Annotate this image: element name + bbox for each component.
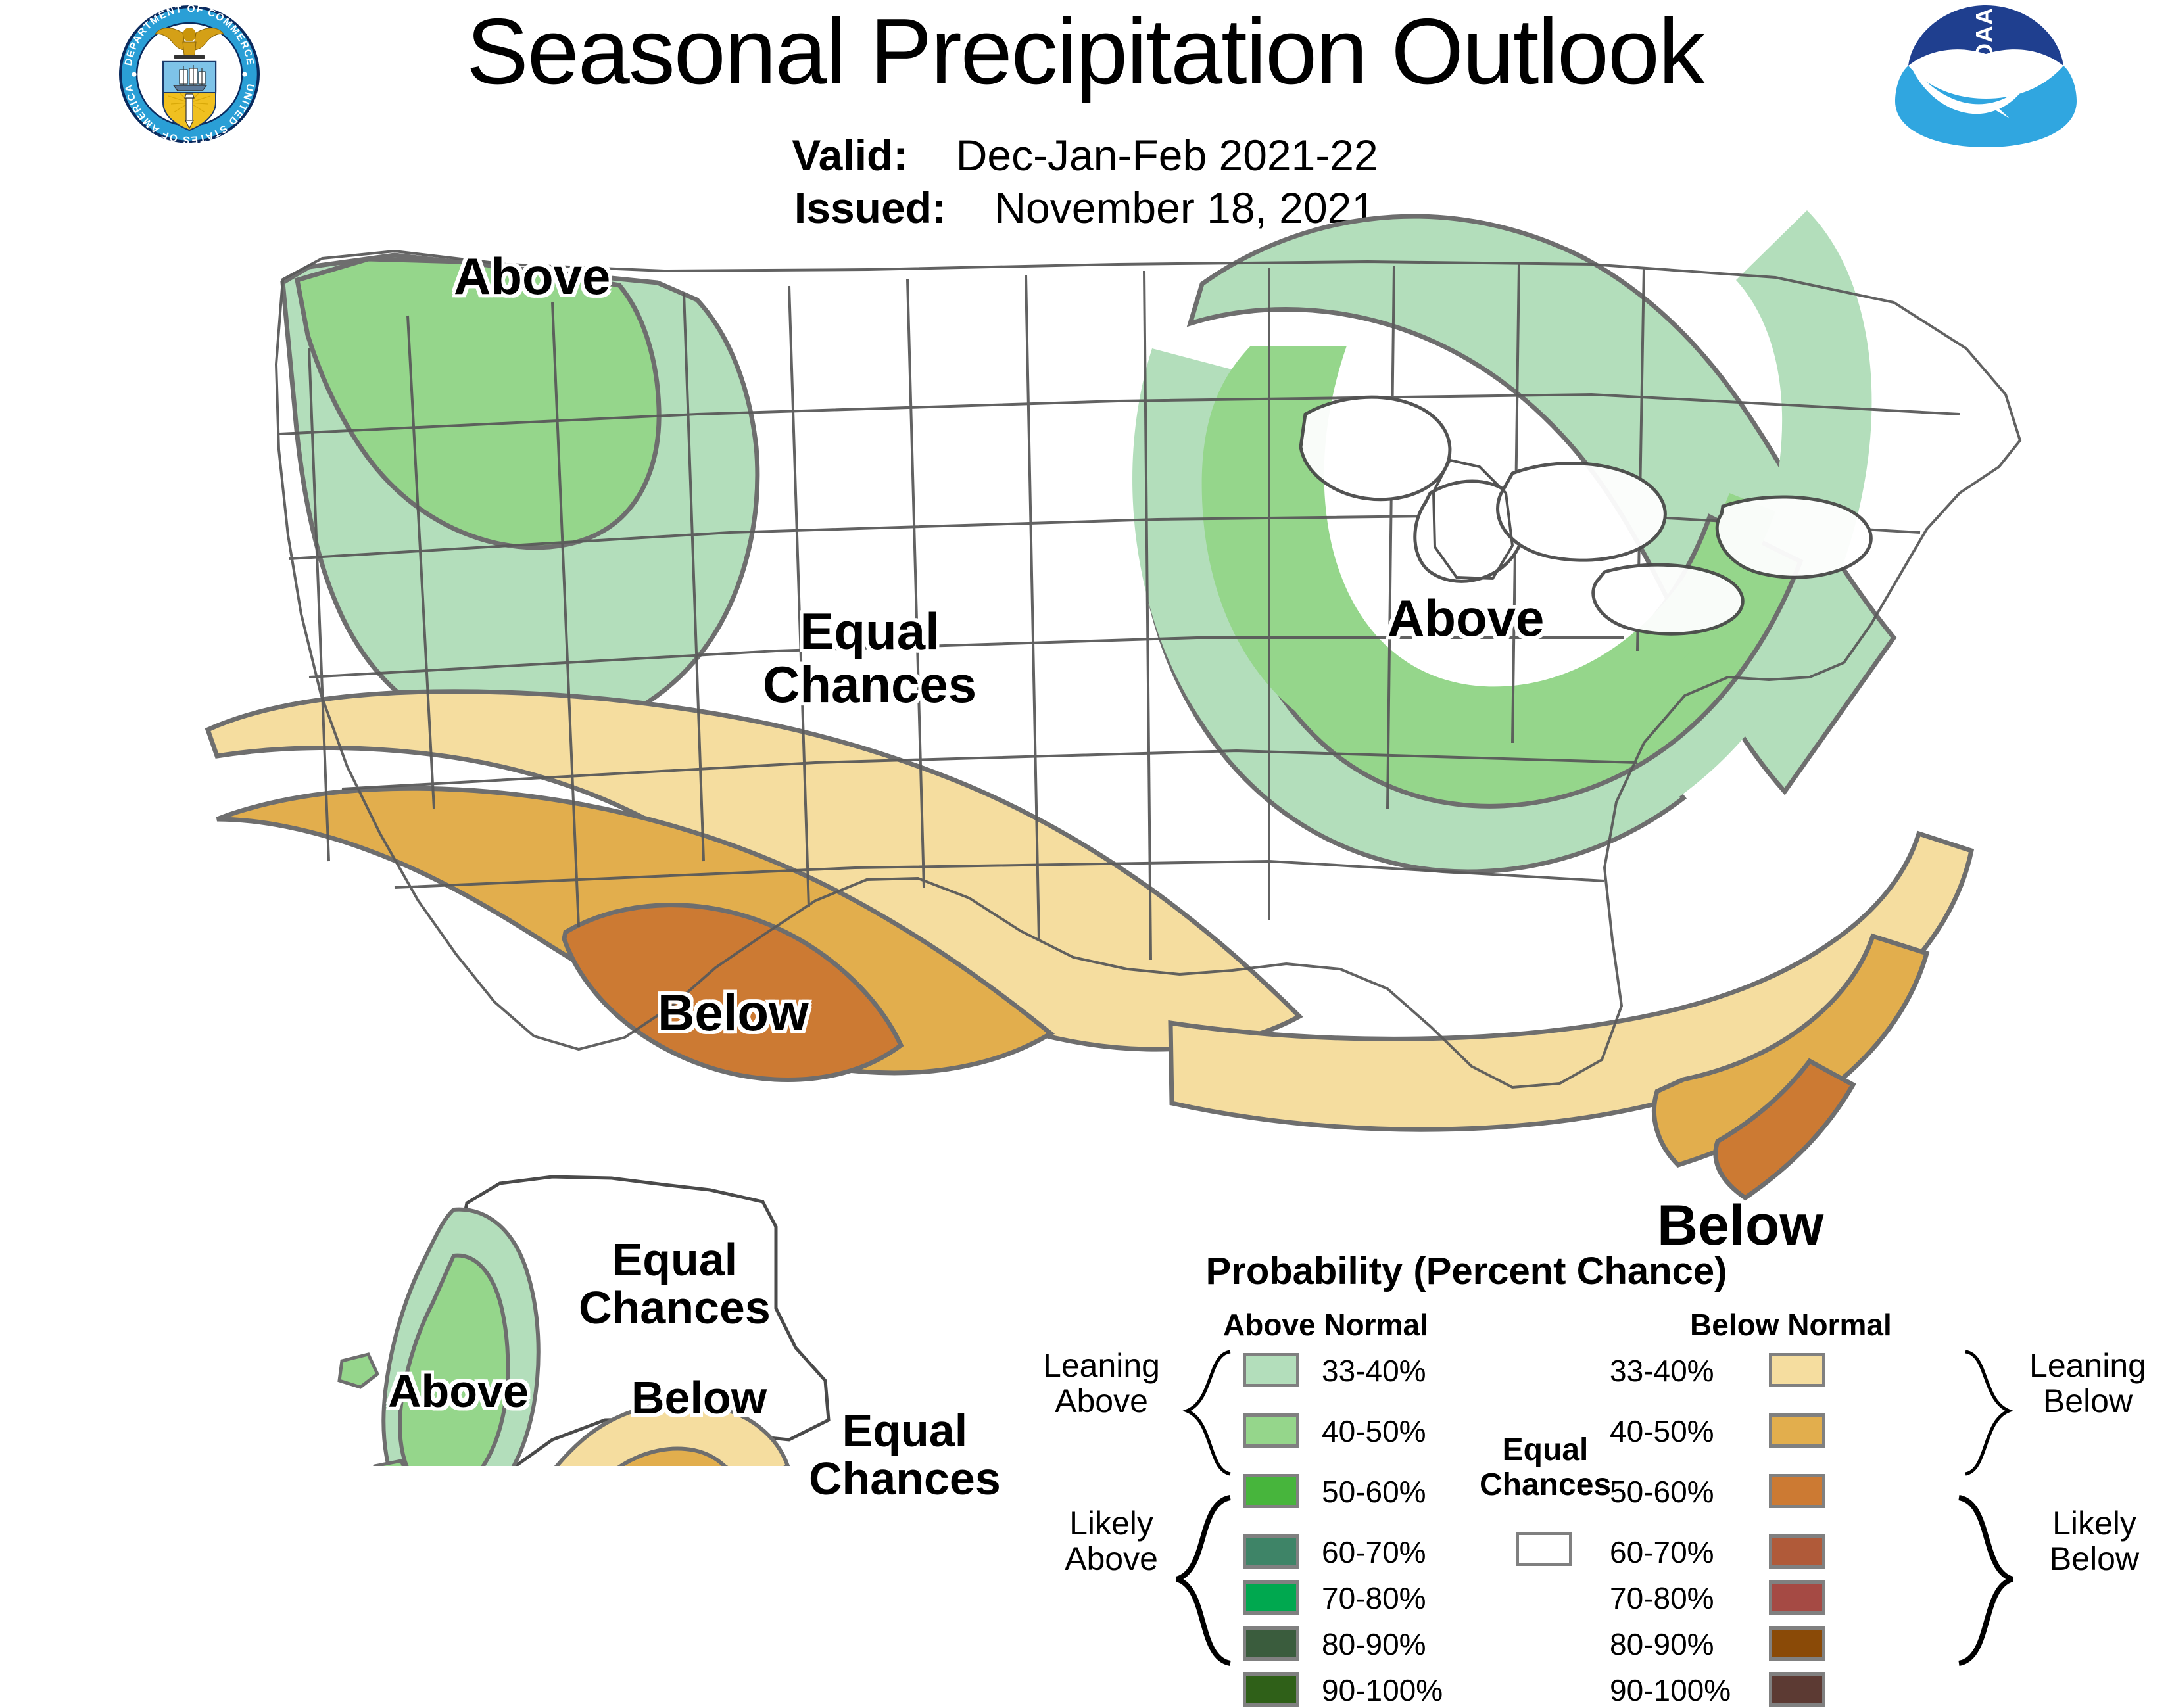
legend-above-normal-heading: Above Normal [1223, 1307, 1428, 1342]
legend-swatch-above-80-90 [1243, 1626, 1299, 1661]
map-label-alaska-equal-chances-2: EqualChances [809, 1407, 1001, 1503]
legend-swatch-below-60-70 [1769, 1534, 1825, 1569]
legend-pct-below-33-40: 33-40% [1610, 1353, 1714, 1388]
legend-below-normal-heading: Below Normal [1690, 1307, 1892, 1342]
legend-pct-below-50-60: 50-60% [1610, 1474, 1714, 1509]
legend-pct-below-80-90: 80-90% [1610, 1626, 1714, 1662]
outlook-page: DEPARTMENT OF COMMERCE UNITED STATES OF … [0, 0, 2170, 1676]
legend-leaning-below-label: LeaningBelow [2012, 1348, 2163, 1419]
legend-swatch-above-90-100 [1243, 1672, 1299, 1707]
map-label-great-lakes: Above [1387, 592, 1544, 645]
map-label-alaska-above: Above [388, 1367, 529, 1415]
legend-swatch-below-50-60 [1769, 1474, 1825, 1508]
legend-swatch-equal-chances [1516, 1532, 1572, 1566]
legend-swatch-below-33-40 [1769, 1353, 1825, 1387]
legend-swatch-below-70-80 [1769, 1580, 1825, 1615]
legend-swatch-above-40-50 [1243, 1413, 1299, 1448]
legend-pct-above-80-90: 80-90% [1322, 1626, 1426, 1662]
likely-below-brace-icon [1956, 1494, 2022, 1666]
leaning-above-brace-icon [1174, 1348, 1233, 1479]
legend-swatch-below-40-50 [1769, 1413, 1825, 1448]
legend-swatch-above-33-40 [1243, 1353, 1299, 1387]
legend-pct-below-70-80: 70-80% [1610, 1580, 1714, 1616]
likely-above-brace-icon [1167, 1494, 1233, 1666]
map-label-northwest: Above [454, 250, 610, 303]
legend-pct-above-33-40: 33-40% [1322, 1353, 1426, 1388]
legend-pct-above-60-70: 60-70% [1322, 1534, 1426, 1570]
legend: Probability (Percent Chance) Above Norma… [1026, 1249, 2170, 1670]
legend-swatch-below-90-100 [1769, 1672, 1825, 1707]
legend-likely-above-label: LikelyAbove [1046, 1506, 1177, 1577]
legend-swatch-above-70-80 [1243, 1580, 1299, 1615]
legend-swatch-below-80-90 [1769, 1626, 1825, 1661]
legend-pct-below-40-50: 40-50% [1610, 1413, 1714, 1449]
legend-pct-above-90-100: 90-100% [1322, 1672, 1443, 1708]
legend-pct-above-50-60: 50-60% [1322, 1474, 1426, 1509]
legend-swatch-above-50-60 [1243, 1474, 1299, 1508]
map-label-florida: Below [1657, 1197, 1823, 1255]
page-title: Seasonal Precipitation Outlook [0, 5, 2170, 99]
map-label-alaska-below: Below [631, 1374, 767, 1422]
legend-title: Probability (Percent Chance) [1197, 1249, 1736, 1293]
legend-pct-below-90-100: 90-100% [1610, 1672, 1731, 1708]
map-label-central-equal-chances: EqualChances [763, 605, 976, 711]
map-label-alaska-equal-chances-1: EqualChances [579, 1236, 771, 1332]
legend-likely-below-label: LikelyBelow [2025, 1506, 2163, 1577]
legend-leaning-above-label: LeaningAbove [1026, 1348, 1177, 1419]
legend-pct-above-40-50: 40-50% [1322, 1413, 1426, 1449]
legend-equal-chances-label: EqualChances [1480, 1433, 1611, 1503]
map-label-southwest: Below [658, 986, 809, 1039]
legend-swatch-above-60-70 [1243, 1534, 1299, 1569]
legend-pct-above-70-80: 70-80% [1322, 1580, 1426, 1616]
legend-pct-below-60-70: 60-70% [1610, 1534, 1714, 1570]
